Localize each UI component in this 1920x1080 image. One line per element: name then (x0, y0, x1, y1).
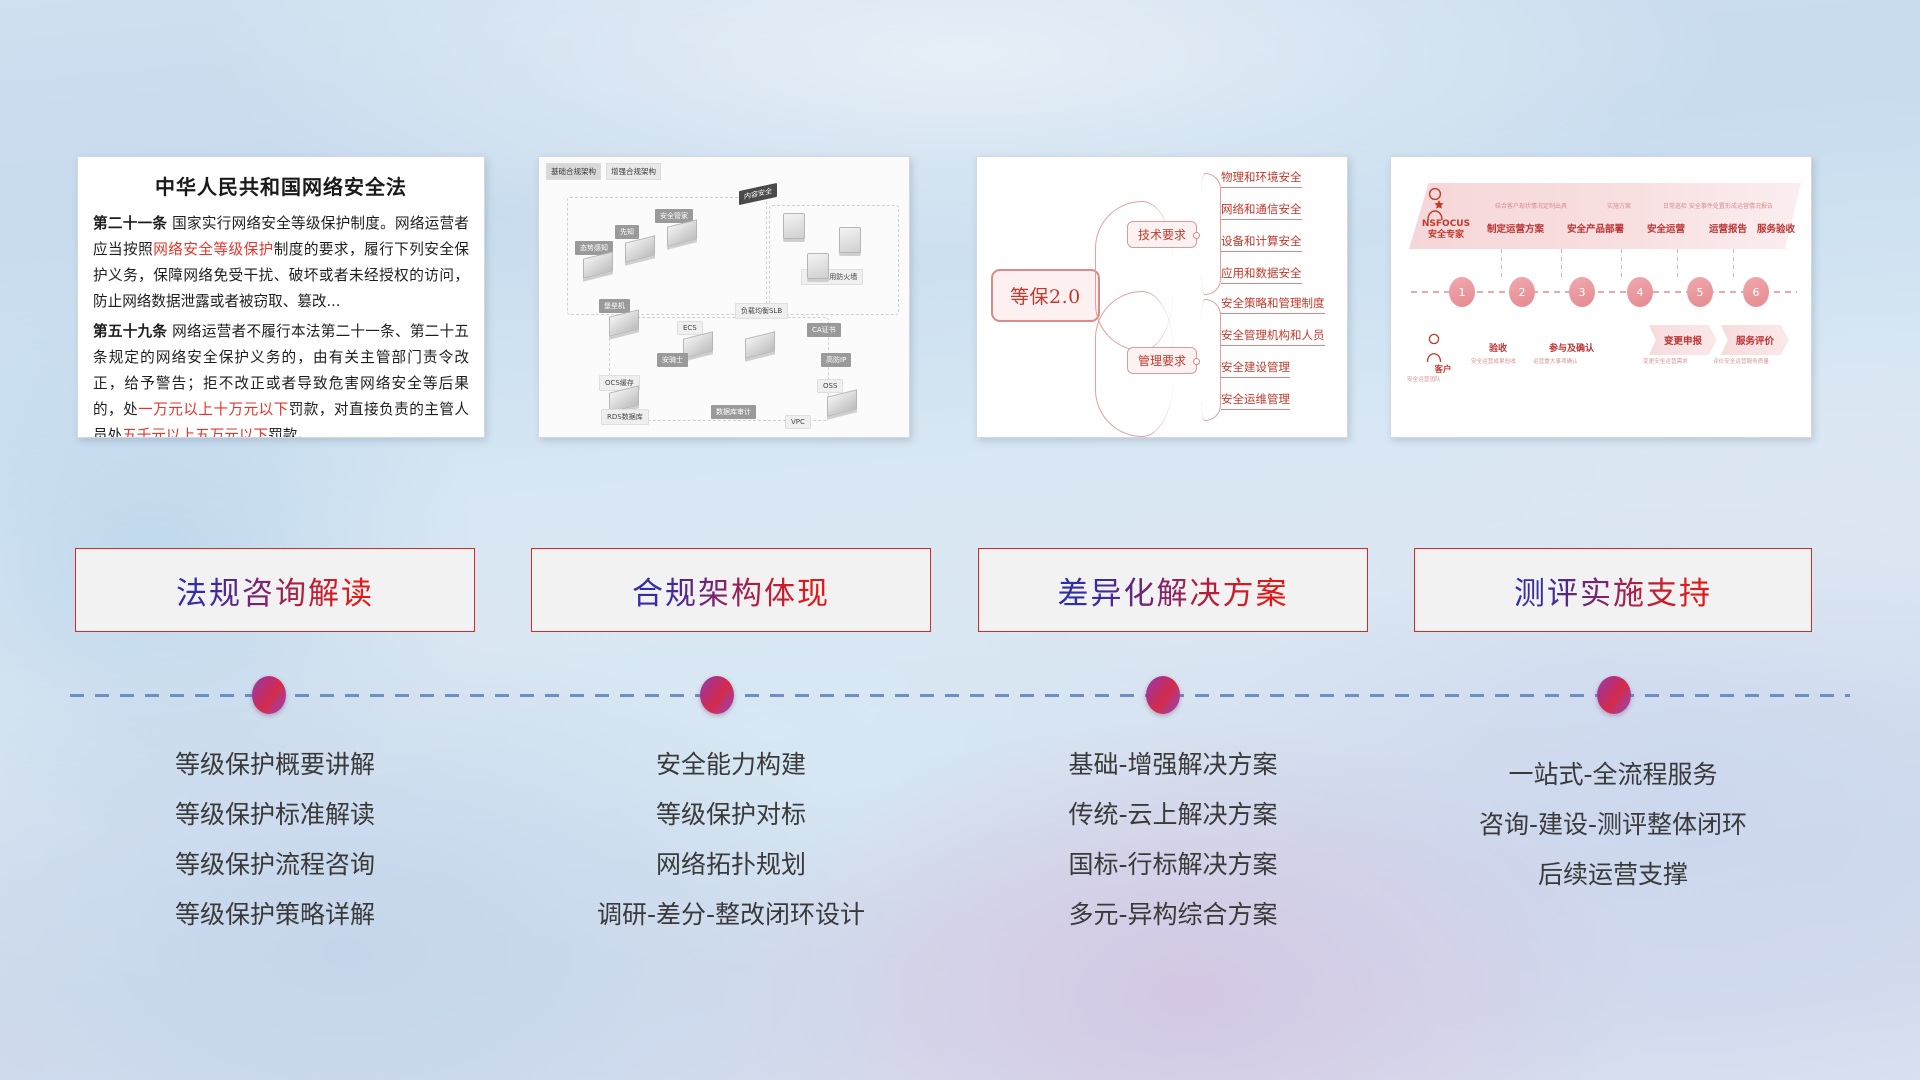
roadmap-step-number-5[interactable]: 5 (1687, 277, 1713, 307)
list-item: 等级保护流程咨询 (75, 840, 475, 890)
step-title-5: 服务验收 (1757, 221, 1795, 235)
mindmap-leaf-construction-mgmt: 安全建设管理 (1221, 359, 1290, 378)
bottom-item-label-2: 参与及确认 (1549, 341, 1594, 354)
step-title-3: 安全运营 (1647, 221, 1685, 235)
card-cybersecurity-law[interactable]: 中华人民共和国网络安全法 第二十一条 国家实行网络安全等级保护制度。网络运营者应… (77, 156, 485, 438)
bottom-item-sub-2: 运营重大事项确认 (1533, 357, 1578, 365)
card-cloud-architecture[interactable]: 基础合规架构 增强合规架构 内容安全 安全管家 先知 态势感知 堡垒机 ECS … (538, 156, 910, 438)
step-sub-3: 日常巡检 安全事件处置 (1663, 201, 1725, 210)
mindmap-leaf-network-comm: 网络和通信安全 (1221, 201, 1302, 220)
node-cube-gateway (839, 227, 861, 253)
customer-role-sub: 安全运营团队 (1407, 375, 1441, 383)
customer-role-label: 客户 (1413, 363, 1473, 375)
list-item: 等级保护标准解读 (75, 790, 475, 840)
law-article-59: 第五十九条 网络运营者不履行本法第二十一条、第二十五条规定的网络安全保护义务的，… (93, 319, 469, 438)
step-sub-1: 结合客户现状情况定制出具 (1495, 201, 1567, 210)
roadmap-stem-1 (1501, 249, 1502, 277)
detail-list-assessment-support: 一站式-全流程服务 咨询-建设-测评整体闭环 后续运营支撑 (1414, 740, 1812, 900)
detail-lists-row: 等级保护概要讲解 等级保护标准解读 等级保护流程咨询 等级保护策略详解 安全能力… (0, 740, 1920, 990)
roadmap-step-number-3[interactable]: 3 (1569, 277, 1595, 307)
article-59-highlight-b: 五千元以上五万元以下 (122, 427, 268, 438)
tab-basic-architecture[interactable]: 基础合规架构 (546, 163, 601, 180)
list-item: 安全能力构建 (531, 740, 931, 790)
bottom-item-sub-3: 变更安全运营需求 (1643, 357, 1688, 365)
list-item: 多元-异构综合方案 (978, 890, 1368, 940)
article-59-label: 第五十九条 (93, 323, 167, 340)
law-title: 中华人民共和国网络安全法 (93, 171, 469, 200)
card-mindmap-dengbao[interactable]: 等保2.0 技术要求 管理要求 物理和环境安全 网络和通信安全 设备和计算安全 … (976, 156, 1348, 438)
roadmap-stem-2 (1561, 249, 1562, 277)
article-21-highlight: 网络安全等级保护 (153, 241, 273, 258)
node-cube-client (807, 253, 829, 279)
list-item: 国标-行标解决方案 (978, 840, 1368, 890)
list-item: 后续运营支撑 (1414, 850, 1812, 900)
mindmap-fan-management (1201, 299, 1221, 421)
headline-box-compliance-architecture[interactable]: 合规架构体现 (531, 548, 931, 632)
law-article-21: 第二十一条 国家实行网络安全等级保护制度。网络运营者应当按照网络安全等级保护制度… (93, 211, 469, 315)
list-item: 等级保护概要讲解 (75, 740, 475, 790)
node-label-slb: 负载均衡SLB (735, 303, 788, 319)
roadmap-step-number-1[interactable]: 1 (1449, 277, 1475, 307)
timeline-dashed-axis (70, 694, 1850, 697)
architecture-tabs[interactable]: 基础合规架构 增强合规架构 (546, 163, 661, 180)
step-title-2: 安全产品部署 (1567, 221, 1624, 235)
list-item: 一站式-全流程服务 (1414, 750, 1812, 800)
roadmap-stem-4 (1677, 249, 1678, 277)
bottom-chevron-4: 服务评价 (1721, 325, 1789, 355)
node-label-vpc: VPC (785, 415, 811, 429)
list-item: 基础-增强解决方案 (978, 740, 1368, 790)
headline-label-1: 法规咨询解读 (176, 568, 374, 613)
node-label-xianzhi: 先知 (615, 225, 639, 239)
headline-label-2: 合规架构体现 (632, 568, 830, 613)
list-item: 传统-云上解决方案 (978, 790, 1368, 840)
node-label-ecs: ECS (677, 321, 703, 335)
step-title-4: 运营报告 (1709, 221, 1747, 235)
roadmap-diagram: NSFOCUS 安全专家 结合客户现状情况定制出具 实施方案 日常巡检 安全事件… (1391, 157, 1811, 437)
headline-label-3: 差异化解决方案 (1058, 568, 1289, 613)
timeline-dot-3[interactable] (1146, 676, 1180, 714)
node-label-anti-ddos: 高防IP (821, 353, 851, 367)
step-sub-4: 形成运营情况报告 (1725, 201, 1773, 210)
architecture-diagram: 基础合规架构 增强合规架构 内容安全 安全管家 先知 态势感知 堡垒机 ECS … (539, 157, 909, 437)
mindmap-fan-technical (1201, 173, 1221, 295)
timeline-dot-1[interactable] (252, 676, 286, 714)
detail-list-compliance-architecture: 安全能力构建 等级保护对标 网络拓扑规划 调研-差分-整改闭环设计 (531, 740, 931, 940)
list-item: 调研-差分-整改闭环设计 (531, 890, 931, 940)
bottom-item-label-1: 验收 (1489, 341, 1507, 354)
list-item: 网络拓扑规划 (531, 840, 931, 890)
expert-person-icon (1425, 187, 1445, 221)
preview-cards-row: 中华人民共和国网络安全法 第二十一条 国家实行网络安全等级保护制度。网络运营者应… (0, 152, 1920, 442)
mindmap-leaf-policy-system: 安全策略和管理制度 (1221, 295, 1325, 314)
mindmap-leaf-ops-mgmt: 安全运维管理 (1221, 391, 1290, 410)
list-item: 等级保护策略详解 (75, 890, 475, 940)
mindmap-toggle-technical[interactable] (1193, 232, 1200, 239)
headline-box-regulation-consulting[interactable]: 法规咨询解读 (75, 548, 475, 632)
expert-brand: NSFOCUS (1415, 219, 1477, 230)
timeline-dot-2[interactable] (700, 676, 734, 714)
list-item: 等级保护对标 (531, 790, 931, 840)
headline-label-4: 测评实施支持 (1514, 568, 1712, 613)
bottom-item-sub-4: 评价安全运营服务质量 (1713, 357, 1769, 365)
card-service-roadmap[interactable]: NSFOCUS 安全专家 结合客户现状情况定制出具 实施方案 日常巡检 安全事件… (1390, 156, 1812, 438)
mindmap-leaf-device-compute: 设备和计算安全 (1221, 233, 1302, 252)
node-label-rds: RDS数据库 (601, 409, 649, 425)
mindmap-leaf-org-personnel: 安全管理机构和人员 (1221, 327, 1325, 346)
mindmap-toggle-management[interactable] (1193, 358, 1200, 365)
node-cube-oss (827, 389, 857, 416)
headline-row: 法规咨询解读 合规架构体现 差异化解决方案 测评实施支持 (0, 548, 1920, 636)
headline-box-differentiated-solution[interactable]: 差异化解决方案 (978, 548, 1368, 632)
roadmap-step-number-4[interactable]: 4 (1627, 277, 1653, 307)
mindmap-leaf-app-data: 应用和数据安全 (1221, 265, 1302, 284)
roadmap-stem-3 (1621, 249, 1622, 277)
node-cube-waf (783, 213, 805, 239)
mindmap-root: 等保2.0 (991, 269, 1100, 322)
bottom-item-sub-1: 安全运营成果验收 (1471, 357, 1516, 365)
mindmap-diagram: 等保2.0 技术要求 管理要求 物理和环境安全 网络和通信安全 设备和计算安全 … (977, 157, 1347, 437)
bottom-chevron-3: 变更申报 (1649, 325, 1717, 355)
article-59-highlight-a: 一万元以上十万元以下 (138, 401, 289, 418)
list-item: 咨询-建设-测评整体闭环 (1414, 800, 1812, 850)
timeline-dot-4[interactable] (1597, 676, 1631, 714)
roadmap-step-number-6[interactable]: 6 (1743, 277, 1769, 307)
detail-list-differentiated-solution: 基础-增强解决方案 传统-云上解决方案 国标-行标解决方案 多元-异构综合方案 (978, 740, 1368, 940)
node-label-oss: OSS (817, 379, 843, 393)
mindmap-branch-management: 管理要求 (1127, 347, 1197, 374)
article-21-label: 第二十一条 (93, 215, 167, 232)
slide-canvas: 中华人民共和国网络安全法 第二十一条 国家实行网络安全等级保护制度。网络运营者应… (0, 0, 1920, 1080)
mindmap-leaf-physical-env: 物理和环境安全 (1221, 169, 1302, 188)
customer-person-icon (1425, 333, 1443, 363)
roadmap-stem-5 (1733, 249, 1734, 277)
headline-box-assessment-support[interactable]: 测评实施支持 (1414, 548, 1812, 632)
roadmap-step-number-2[interactable]: 2 (1509, 277, 1535, 307)
article-59-text-c: 罚款。 (268, 427, 312, 438)
detail-list-regulation-consulting: 等级保护概要讲解 等级保护标准解读 等级保护流程咨询 等级保护策略详解 (75, 740, 475, 940)
step-sub-2: 实施方案 (1607, 201, 1631, 210)
expert-role: 安全专家 (1415, 230, 1477, 241)
node-label-db-audit: 数据库审计 (711, 405, 756, 419)
node-label-bastion: 堡垒机 (599, 299, 630, 313)
node-label-anqishi: 安骑士 (657, 353, 688, 367)
expert-role-label: NSFOCUS 安全专家 (1415, 219, 1477, 242)
node-label-ca-cert: CA证书 (807, 323, 841, 337)
step-title-1: 制定运营方案 (1487, 221, 1544, 235)
tab-enhanced-architecture[interactable]: 增强合规架构 (606, 163, 661, 180)
mindmap-branch-technical: 技术要求 (1127, 221, 1197, 248)
